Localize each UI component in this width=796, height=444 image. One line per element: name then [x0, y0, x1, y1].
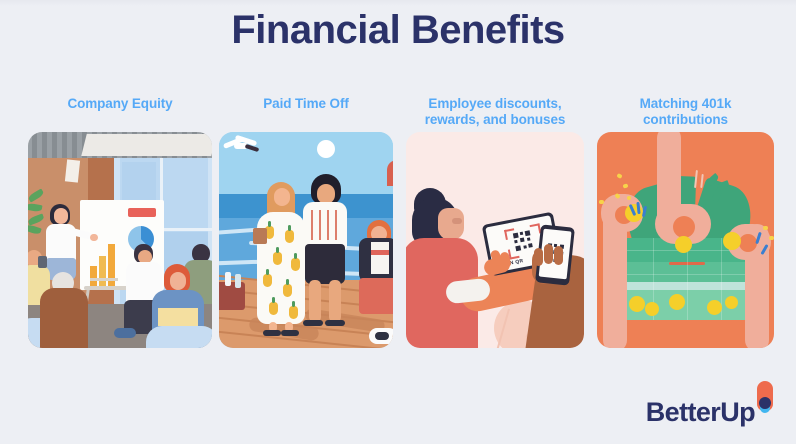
shoe — [281, 330, 299, 336]
child-shirt-stripe — [371, 250, 389, 255]
benefit-caption-4: Matching 401k contributions — [597, 96, 774, 130]
hand-right-hole — [739, 234, 757, 252]
motion-line — [694, 170, 697, 188]
slide-canvas: Financial Benefits Company Equity — [0, 0, 796, 444]
benefit-caption-4-line1: Matching 401k — [640, 96, 732, 111]
handbag — [253, 228, 267, 244]
coin — [707, 300, 722, 315]
attendee-body — [40, 288, 88, 348]
benefit-caption-2: Paid Time Off — [219, 96, 393, 130]
attendee-shoe — [114, 328, 136, 338]
shoe — [263, 330, 281, 336]
brand-logo-mark-icon — [756, 381, 774, 421]
sun-icon — [317, 140, 335, 158]
illustration-qr-scanning: SCAN QR — [406, 132, 584, 348]
coin-held — [723, 232, 741, 250]
man-leg — [309, 280, 321, 322]
sparkle — [769, 236, 774, 240]
man-leg — [329, 280, 341, 322]
plant-icon — [28, 192, 46, 238]
child-legs — [359, 278, 393, 314]
finger — [544, 244, 553, 264]
woman-ear — [452, 218, 462, 224]
ceiling-panel — [81, 134, 212, 156]
benefit-image-paid-time-off — [219, 132, 393, 348]
benefit-column-company-equity: Company Equity — [28, 96, 212, 348]
presenter-hand — [90, 234, 98, 241]
benefit-image-company-equity — [28, 132, 212, 348]
brand-logo-text: BetterUp — [646, 399, 755, 426]
sparkle — [627, 196, 631, 200]
chart-legend-bar — [128, 208, 156, 217]
coin-dropping — [675, 236, 692, 253]
coin — [629, 296, 645, 312]
benefit-caption-4-line2: contributions — [643, 112, 728, 127]
woman-face — [438, 208, 464, 240]
sparkle — [622, 183, 628, 188]
sparkle — [616, 173, 622, 179]
page-title: Financial Benefits — [0, 8, 796, 53]
man-face — [317, 184, 335, 204]
illustration-coins-savings — [597, 132, 774, 348]
finger — [554, 246, 563, 265]
chair — [146, 326, 212, 348]
attendee-scarf — [158, 308, 198, 326]
beach-umbrella — [387, 160, 393, 186]
coin — [669, 294, 685, 310]
man-shorts — [305, 244, 345, 284]
presenter-face — [54, 208, 68, 224]
finger — [534, 248, 543, 266]
shoe — [303, 320, 323, 326]
sneaker-detail — [375, 332, 389, 340]
man-shirt — [303, 202, 347, 250]
coin — [645, 302, 659, 316]
benefit-caption-1: Company Equity — [28, 96, 212, 130]
benefit-column-matching-401k: Matching 401k contributions — [597, 96, 774, 348]
shoe — [325, 320, 345, 326]
sparkle — [599, 200, 604, 204]
illustration-beach-boardwalk — [219, 132, 393, 348]
benefit-caption-3-line1: Employee discounts, — [428, 96, 561, 111]
chart-bar — [108, 244, 115, 290]
brand-logo: BetterUp — [646, 381, 774, 426]
benefit-column-employee-discounts: Employee discounts, rewards, and bonuses — [406, 96, 584, 348]
seagull-icon — [223, 138, 257, 154]
benefit-caption-3: Employee discounts, rewards, and bonuses — [406, 96, 584, 130]
sparkle — [763, 226, 768, 230]
benefit-column-paid-time-off: Paid Time Off — [219, 96, 393, 348]
attendee-phone — [38, 256, 47, 268]
illustration-office-presentation — [28, 132, 212, 348]
beach-bag — [219, 282, 245, 310]
benefit-image-matching-401k — [597, 132, 774, 348]
hand-center-hole — [673, 216, 695, 238]
woman-face — [274, 188, 290, 206]
benefit-image-employee-discounts: SCAN QR — [406, 132, 584, 348]
chart-bar — [99, 256, 106, 290]
benefit-caption-3-line2: rewards, and bonuses — [425, 112, 566, 127]
sticky-note-icon — [65, 159, 80, 182]
chart-axis — [90, 278, 118, 281]
child-shirt — [371, 242, 389, 274]
attendee-face — [170, 272, 186, 290]
coin — [725, 296, 738, 309]
